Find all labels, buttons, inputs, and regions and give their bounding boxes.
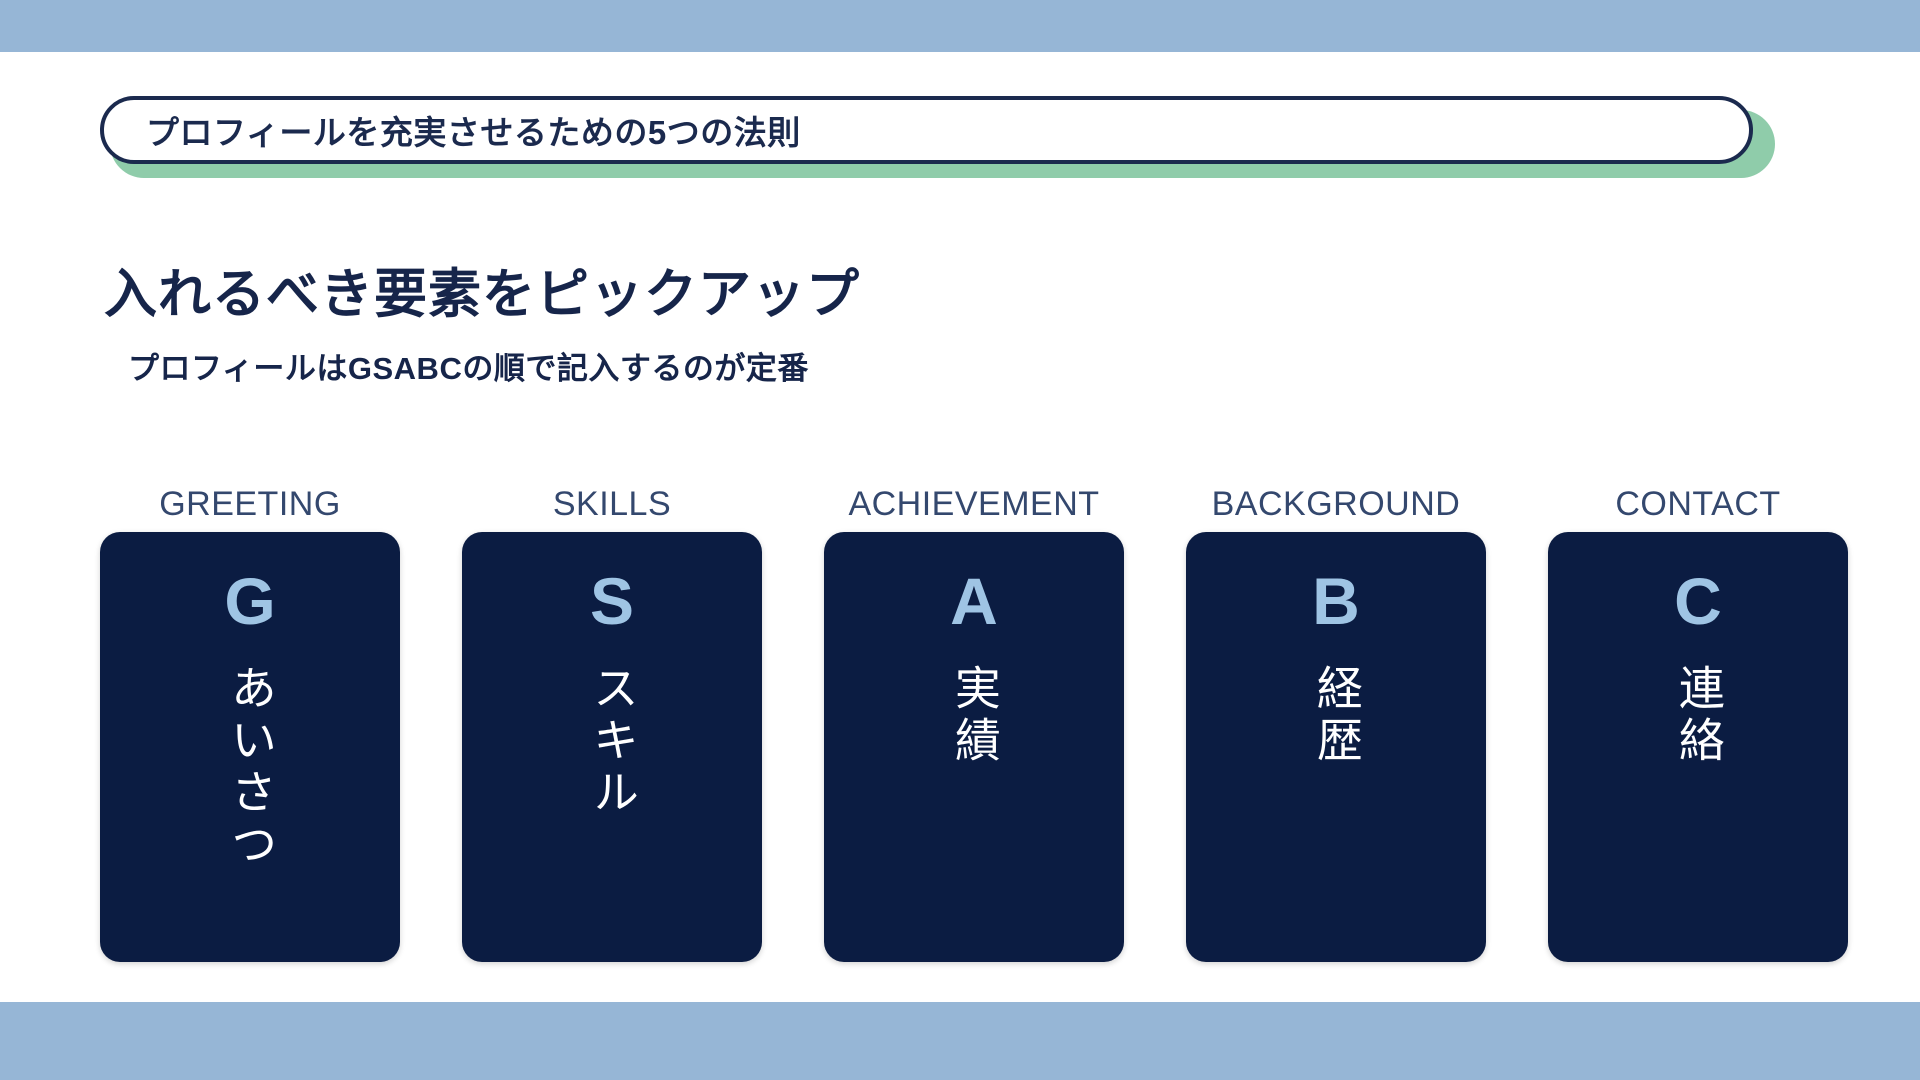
card-letter: B	[1312, 568, 1360, 634]
card-label: BACKGROUND	[1212, 485, 1461, 524]
card-japanese-label: 連絡	[1673, 664, 1723, 768]
card-column-achievement: ACHIEVEMENT A 実績	[824, 485, 1124, 962]
card-letter: G	[224, 568, 275, 634]
card-letter: S	[590, 568, 634, 634]
card-column-greeting: GREETING G あいさつ	[100, 485, 400, 962]
card-label: GREETING	[159, 485, 341, 524]
card-column-contact: CONTACT C 連絡	[1548, 485, 1848, 962]
card-column-skills: SKILLS S スキル	[462, 485, 762, 962]
header-pill-text: プロフィールを充実させるための5つの法則	[146, 106, 801, 154]
card-label: CONTACT	[1615, 485, 1780, 524]
card-japanese-label: スキル	[587, 664, 637, 820]
card-japanese-label: あいさつ	[225, 664, 275, 872]
slide-canvas: プロフィールを充実させるための5つの法則 入れるべき要素をピックアップ プロフィ…	[0, 0, 1920, 1080]
card-letter: C	[1674, 568, 1722, 634]
card-column-background: BACKGROUND B 経歴	[1186, 485, 1486, 962]
header-pill: プロフィールを充実させるための5つの法則	[100, 96, 1765, 168]
top-accent-band	[0, 0, 1920, 52]
card-greeting[interactable]: G あいさつ	[100, 532, 400, 962]
header-pill-body: プロフィールを充実させるための5つの法則	[100, 96, 1753, 164]
card-achievement[interactable]: A 実績	[824, 532, 1124, 962]
bottom-accent-band	[0, 1002, 1920, 1080]
card-japanese-label: 経歴	[1311, 664, 1361, 768]
card-skills[interactable]: S スキル	[462, 532, 762, 962]
card-letter: A	[950, 568, 998, 634]
card-label: SKILLS	[553, 485, 671, 524]
page-subtitle: プロフィールはGSABCの順で記入するのが定番	[128, 343, 809, 388]
card-contact[interactable]: C 連絡	[1548, 532, 1848, 962]
card-row: GREETING G あいさつ SKILLS S スキル ACHIEVEMENT…	[100, 485, 1860, 962]
card-japanese-label: 実績	[949, 664, 999, 768]
card-label: ACHIEVEMENT	[848, 485, 1099, 524]
card-background[interactable]: B 経歴	[1186, 532, 1486, 962]
page-title: 入れるべき要素をピックアップ	[104, 252, 860, 328]
